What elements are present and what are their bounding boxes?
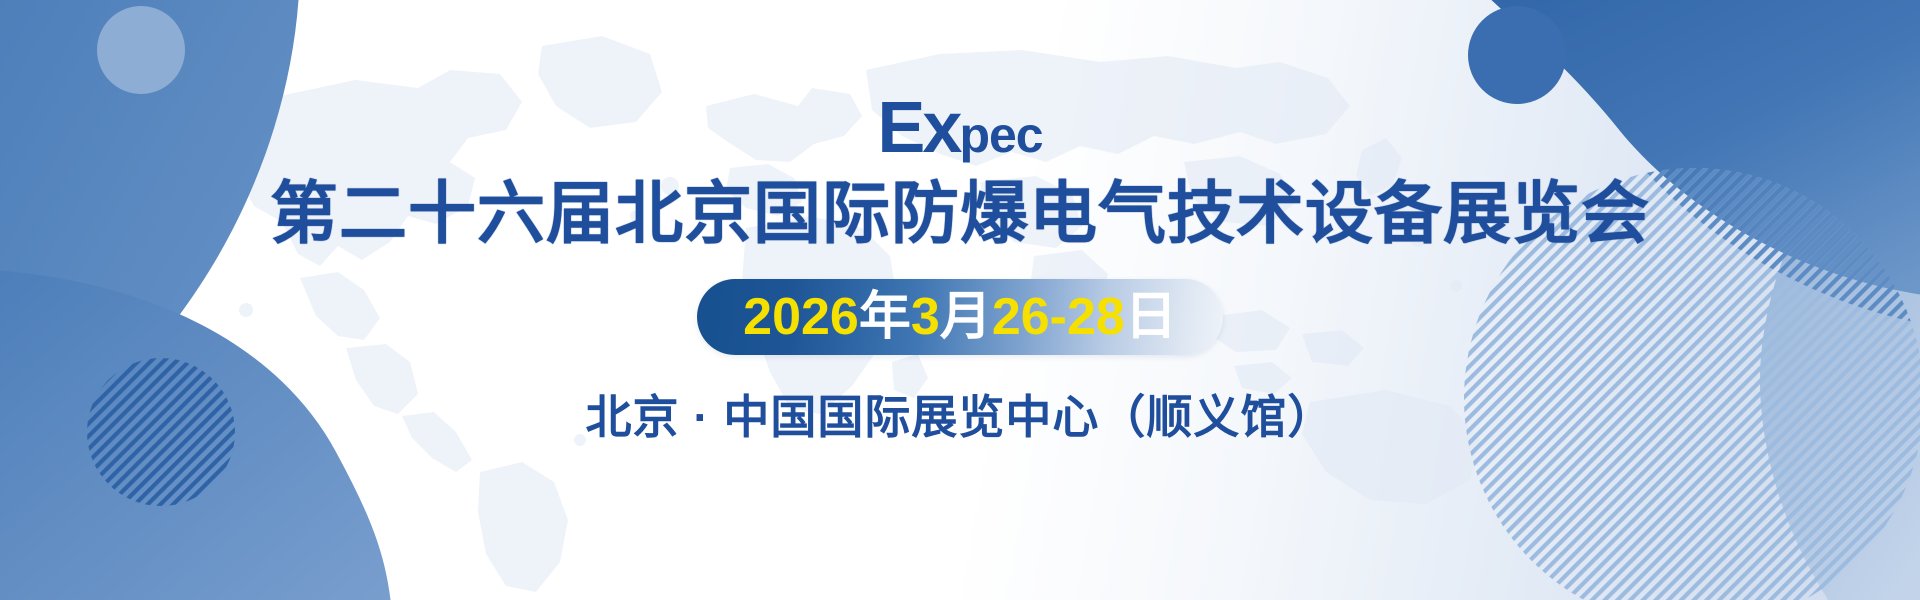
date-month-unit: 月 [940, 291, 992, 343]
date-year-unit: 年 [859, 291, 911, 343]
date-day-unit: 日 [1125, 291, 1177, 343]
event-date-pill: 2026年3月26-28日 [697, 279, 1223, 355]
date-month: 3 [911, 291, 940, 343]
event-venue: 北京 · 中国国际展览中心（顺义馆） [586, 381, 1335, 447]
event-date-text: 2026年3月26-28日 [743, 291, 1177, 343]
date-days: 26-28 [992, 291, 1125, 343]
event-title: 第二十六届北京国际防爆电气技术设备展览会 [270, 178, 1650, 251]
logo-tail-text: pec [959, 107, 1042, 163]
date-year: 2026 [743, 291, 859, 343]
logo-lead-text: Ex [877, 88, 959, 168]
banner-content: Expec 第二十六届北京国际防爆电气技术设备展览会 2026年3月26-28日… [0, 0, 1920, 600]
event-logo: Expec [877, 92, 1042, 164]
event-banner: Expec 第二十六届北京国际防爆电气技术设备展览会 2026年3月26-28日… [0, 0, 1920, 600]
